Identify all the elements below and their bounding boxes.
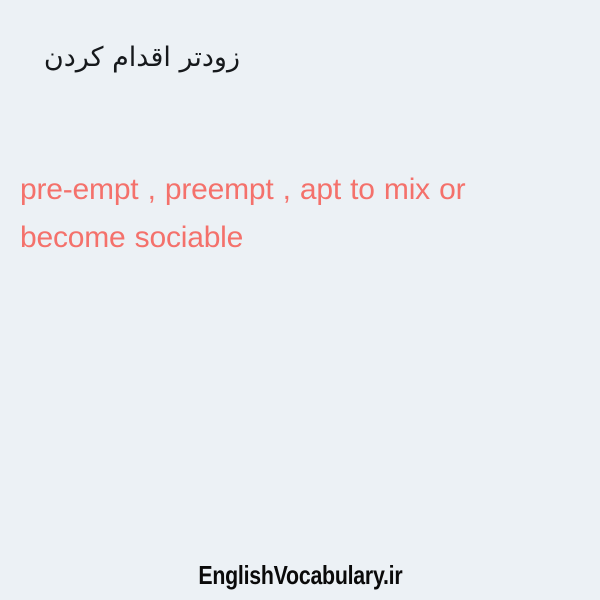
site-brand-label: EnglishVocabulary.ir (198, 560, 402, 590)
vocabulary-card: زودتر اقدام کردن pre-empt , preempt , ap… (0, 0, 600, 600)
footer: EnglishVocabulary.ir (0, 560, 600, 590)
persian-headword: زودتر اقدام کردن (20, 38, 240, 78)
english-meaning-text: pre-empt , preempt , apt to mix or becom… (20, 166, 548, 262)
